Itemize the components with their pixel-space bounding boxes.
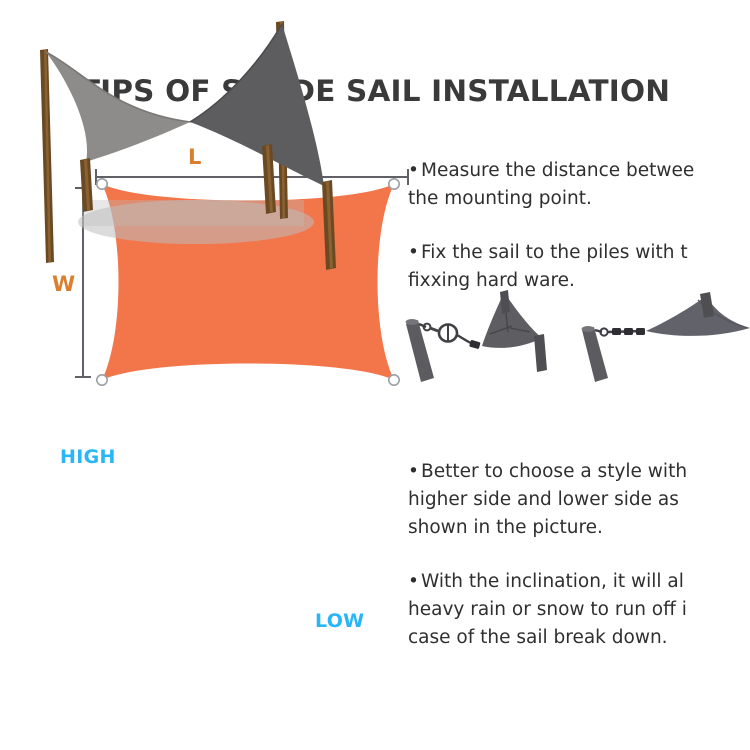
infographic-page: TIPS OF SHADE SAIL INSTALLATION L W •Mea…	[0, 0, 750, 750]
bullet-line: •Fix the sail to the piles with t	[408, 239, 750, 267]
bullet-text: With the inclination, it will al	[421, 571, 684, 592]
bullet-line: heavy rain or snow to run off i	[408, 596, 750, 624]
bullet-text: Better to choose a style with	[421, 461, 687, 482]
sail-right	[190, 24, 324, 186]
chain-link	[624, 328, 633, 335]
bullet-line: shown in the picture.	[408, 514, 750, 542]
pole-top	[582, 326, 595, 332]
bullet-text: heavy rain or snow to run off i	[408, 599, 687, 620]
list-item: •Measure the distance betwee the mountin…	[408, 157, 750, 213]
grommet-icon	[389, 375, 399, 385]
bullet-line: •Better to choose a style with	[408, 458, 750, 486]
label-low: LOW	[315, 610, 364, 632]
hypar-sail-scene	[30, 430, 420, 720]
sail-corner-triangle	[482, 292, 542, 348]
connector-link	[430, 328, 438, 331]
bullet-line: higher side and lower side as	[408, 486, 750, 514]
list-item: •Better to choose a style with higher si…	[408, 458, 750, 542]
bullet-text: shown in the picture.	[408, 517, 603, 538]
bullet-text: Measure the distance betwee	[421, 160, 694, 181]
bullet-dot-icon: •	[408, 239, 421, 267]
list-item: •With the inclination, it will al heavy …	[408, 568, 750, 652]
hypar-sail-illustration	[0, 0, 390, 290]
chain-link	[612, 328, 621, 335]
bullet-text: Fix the sail to the piles with t	[421, 242, 688, 263]
bullet-dot-icon: •	[408, 157, 421, 185]
bullet-text: the mounting point.	[408, 188, 592, 209]
tips-list-top: •Measure the distance betwee the mountin…	[408, 157, 750, 295]
hardware-illustration-right	[566, 278, 750, 386]
bullet-text: case of the sail break down.	[408, 627, 668, 648]
bullet-dot-icon: •	[408, 568, 421, 596]
sail-corner-triangle	[646, 296, 750, 336]
bullet-dot-icon: •	[408, 458, 421, 486]
hardware-illustration-left	[404, 282, 570, 386]
anchor-post	[534, 334, 547, 372]
grommet-icon	[97, 375, 107, 385]
pole-top	[406, 319, 419, 325]
bullet-line: case of the sail break down.	[408, 624, 750, 652]
bullet-text: higher side and lower side as	[408, 489, 679, 510]
chain-link	[636, 328, 645, 335]
sail-left	[46, 52, 190, 162]
label-high: HIGH	[60, 446, 116, 468]
bullet-line: the mounting point.	[408, 185, 750, 213]
tips-list-bottom: •Better to choose a style with higher si…	[408, 458, 750, 652]
bullet-line: •Measure the distance betwee	[408, 157, 750, 185]
grommet-icon	[389, 179, 399, 189]
shackle	[469, 340, 481, 349]
bullet-line: •With the inclination, it will al	[408, 568, 750, 596]
